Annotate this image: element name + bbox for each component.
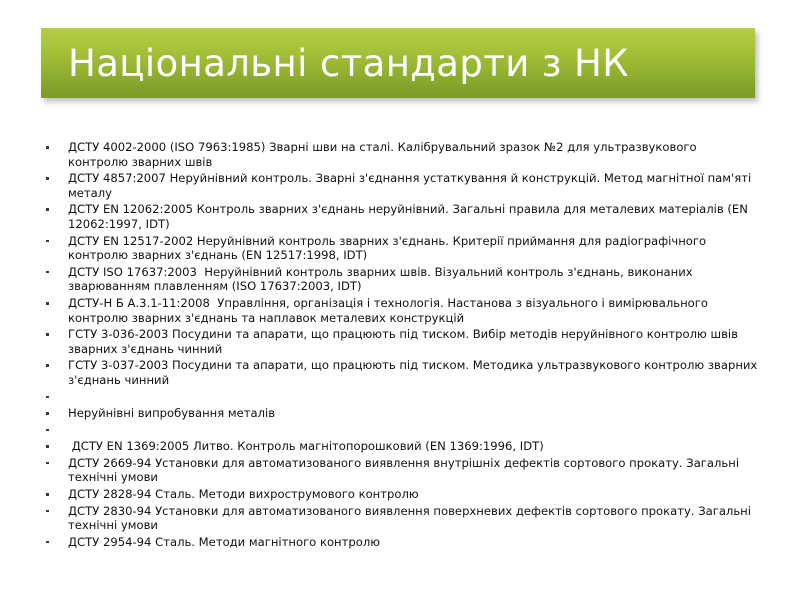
list-item: ДСТУ 4857:2007 Неруйнівний контроль. Зва… xyxy=(41,171,759,200)
list-item: ГСТУ 3-037-2003 Посудини та апарати, що … xyxy=(41,358,759,387)
slide-root: Національні стандарти з НК ДСТУ 4002-200… xyxy=(0,0,800,600)
list-item: ДСТУ 2828-94 Сталь. Методи вихрострумово… xyxy=(41,487,759,502)
list-item xyxy=(41,423,759,438)
list-item: ГСТУ 3-036-2003 Посудини та апарати, що … xyxy=(41,327,759,356)
list-item: ДСТУ 2830-94 Установки для автоматизован… xyxy=(41,504,759,533)
page-title: Національні стандарти з НК xyxy=(68,45,629,82)
list-item: ДСТУ EN 12517-2002 Неруйнівний контроль … xyxy=(41,234,759,263)
list-item: ДСТУ ISO 17637:2003 Неруйнівний контроль… xyxy=(41,265,759,294)
list-item: Неруйнівні випробування металів xyxy=(41,406,759,421)
list-item: ДСТУ 2669-94 Установки для автоматизован… xyxy=(41,456,759,485)
list-item: ДСТУ 4002-2000 (ISO 7963:1985) Зварні шв… xyxy=(41,140,759,169)
list-item xyxy=(41,390,759,405)
standards-content: ДСТУ 4002-2000 (ISO 7963:1985) Зварні шв… xyxy=(41,140,759,551)
standards-list: ДСТУ 4002-2000 (ISO 7963:1985) Зварні шв… xyxy=(41,140,759,549)
list-item: ДСТУ 2954-94 Сталь. Методи магнітного ко… xyxy=(41,535,759,550)
list-item: ДСТУ EN 1369:2005 Литво. Контроль магніт… xyxy=(41,439,759,454)
list-item: ДСТУ EN 12062:2005 Контроль зварних з'єд… xyxy=(41,202,759,231)
list-item: ДСТУ-Н Б А.3.1-11:2008 Управління, орган… xyxy=(41,296,759,325)
title-banner: Національні стандарти з НК xyxy=(41,28,755,98)
